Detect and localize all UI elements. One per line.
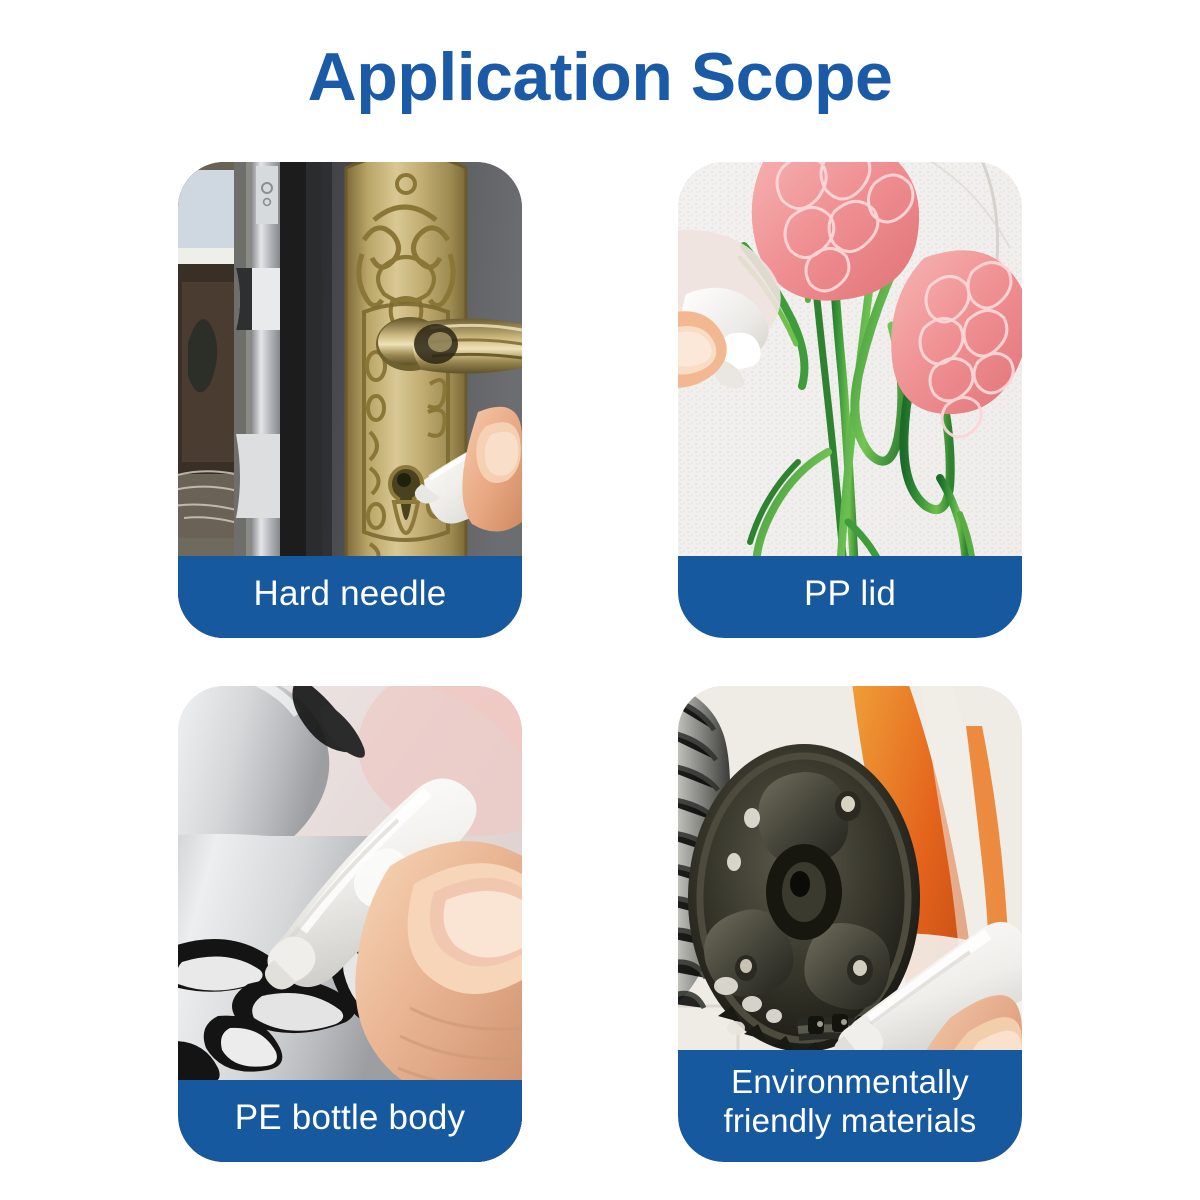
card-pp-lid[interactable]: PP lid bbox=[678, 162, 1022, 638]
card-hard-needle[interactable]: Hard needle bbox=[178, 162, 522, 638]
application-scope-infographic: Application Scope bbox=[0, 0, 1200, 1200]
card-label-text-line-2: friendly materials bbox=[723, 1102, 976, 1141]
card-label-pe-bottle-body: PE bottle body bbox=[178, 1080, 522, 1162]
card-label-hard-needle: Hard needle bbox=[178, 556, 522, 638]
card-label-text-line-1: Environmentally bbox=[723, 1063, 976, 1102]
card-environmentally-friendly-materials[interactable]: Environmentally friendly materials bbox=[678, 686, 1022, 1162]
card-label-pp-lid: PP lid bbox=[678, 556, 1022, 638]
card-label-text: PP lid bbox=[804, 574, 896, 615]
card-label-environmentally-friendly-materials: Environmentally friendly materials bbox=[678, 1050, 1022, 1162]
card-label-text: PE bottle body bbox=[235, 1098, 465, 1139]
application-cards-grid: Hard needle bbox=[178, 162, 1026, 1162]
card-label-text: Hard needle bbox=[254, 574, 447, 615]
page-title: Application Scope bbox=[0, 42, 1200, 113]
card-pe-bottle-body[interactable]: PE bottle body bbox=[178, 686, 522, 1162]
